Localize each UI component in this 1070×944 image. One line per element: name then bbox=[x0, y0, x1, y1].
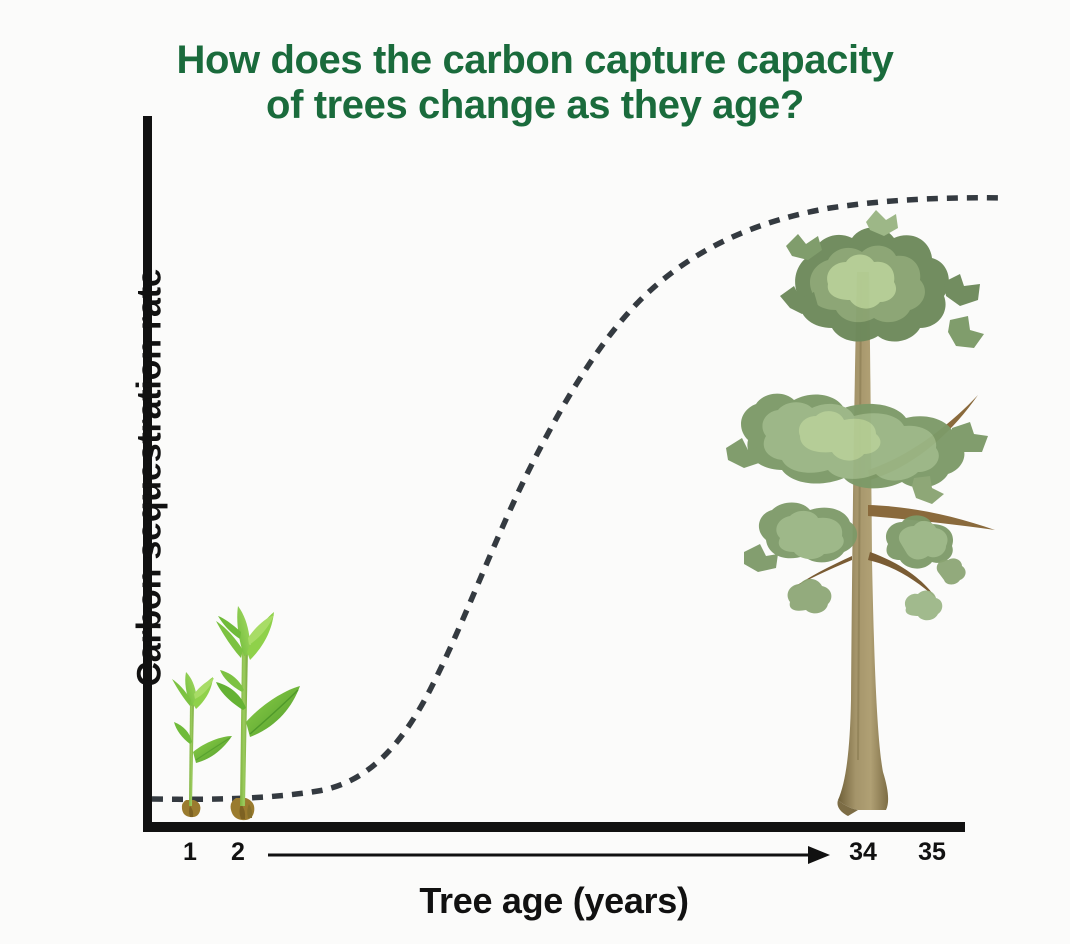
x-tick-label-1: 1 bbox=[170, 838, 210, 867]
tree-canopy-middle bbox=[726, 394, 988, 504]
tree-foliage-sparse bbox=[788, 558, 966, 620]
infographic-canvas: How does the carbon capture capacity of … bbox=[0, 0, 1070, 944]
x-tick-label-35: 35 bbox=[912, 838, 952, 867]
y-axis-title: Carbon sequestration rate bbox=[131, 168, 170, 788]
x-axis-line bbox=[143, 822, 965, 832]
tree-branches bbox=[790, 395, 995, 598]
x-tick-label-34: 34 bbox=[843, 838, 883, 867]
age-progression-arrow bbox=[268, 846, 830, 864]
tree-canopy-right bbox=[886, 515, 953, 568]
tree-canopy-lower bbox=[744, 503, 857, 573]
tree-canopy-upper bbox=[780, 210, 984, 348]
x-axis-title: Tree age (years) bbox=[143, 880, 965, 922]
page-title: How does the carbon capture capacity of … bbox=[0, 38, 1070, 128]
mature-tree-illustration bbox=[726, 210, 995, 816]
sequestration-rate-curve bbox=[152, 198, 1005, 800]
x-tick-label-2: 2 bbox=[218, 838, 258, 867]
seedling-small-illustration bbox=[172, 672, 232, 817]
seedling-large-illustration bbox=[216, 606, 300, 820]
